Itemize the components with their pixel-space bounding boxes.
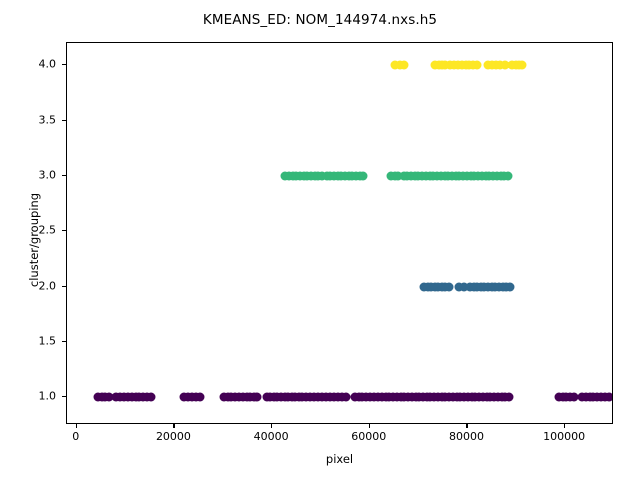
page-title: KMEANS_ED: NOM_144974.nxs.h5: [0, 12, 640, 28]
data-point: [473, 61, 482, 70]
data-point: [504, 171, 513, 180]
y-tick-label: 1.0: [16, 390, 56, 403]
data-point: [195, 393, 204, 402]
data-point: [518, 61, 527, 70]
y-tick-mark: [62, 286, 66, 287]
y-tick-label: 4.0: [16, 58, 56, 71]
x-tick-label: 80000: [449, 430, 484, 443]
x-tick-mark: [564, 424, 565, 428]
data-point: [341, 393, 350, 402]
y-tick-mark: [62, 175, 66, 176]
data-point: [252, 393, 261, 402]
y-tick-mark: [62, 396, 66, 397]
data-point: [147, 393, 156, 402]
x-axis-label: pixel: [66, 452, 613, 466]
y-tick-mark: [62, 120, 66, 121]
x-tick-label: 60000: [351, 430, 386, 443]
x-tick-label: 40000: [254, 430, 289, 443]
y-tick-mark: [62, 64, 66, 65]
plot-area: [66, 42, 613, 424]
data-point: [505, 282, 514, 291]
y-tick-mark: [62, 341, 66, 342]
x-tick-mark: [173, 424, 174, 428]
x-tick-mark: [369, 424, 370, 428]
data-point: [359, 171, 368, 180]
x-tick-label: 20000: [156, 430, 191, 443]
x-tick-mark: [76, 424, 77, 428]
data-point: [605, 393, 613, 402]
x-tick-label: 100000: [543, 430, 585, 443]
data-point: [504, 393, 513, 402]
x-tick-label: 0: [72, 430, 79, 443]
x-tick-mark: [466, 424, 467, 428]
y-axis-label: cluster/grouping: [27, 120, 41, 360]
matplotlib-figure: KMEANS_ED: NOM_144974.nxs.h5 02000040000…: [0, 0, 640, 480]
y-tick-mark: [62, 230, 66, 231]
data-point: [444, 282, 453, 291]
data-point: [399, 61, 408, 70]
x-tick-mark: [271, 424, 272, 428]
